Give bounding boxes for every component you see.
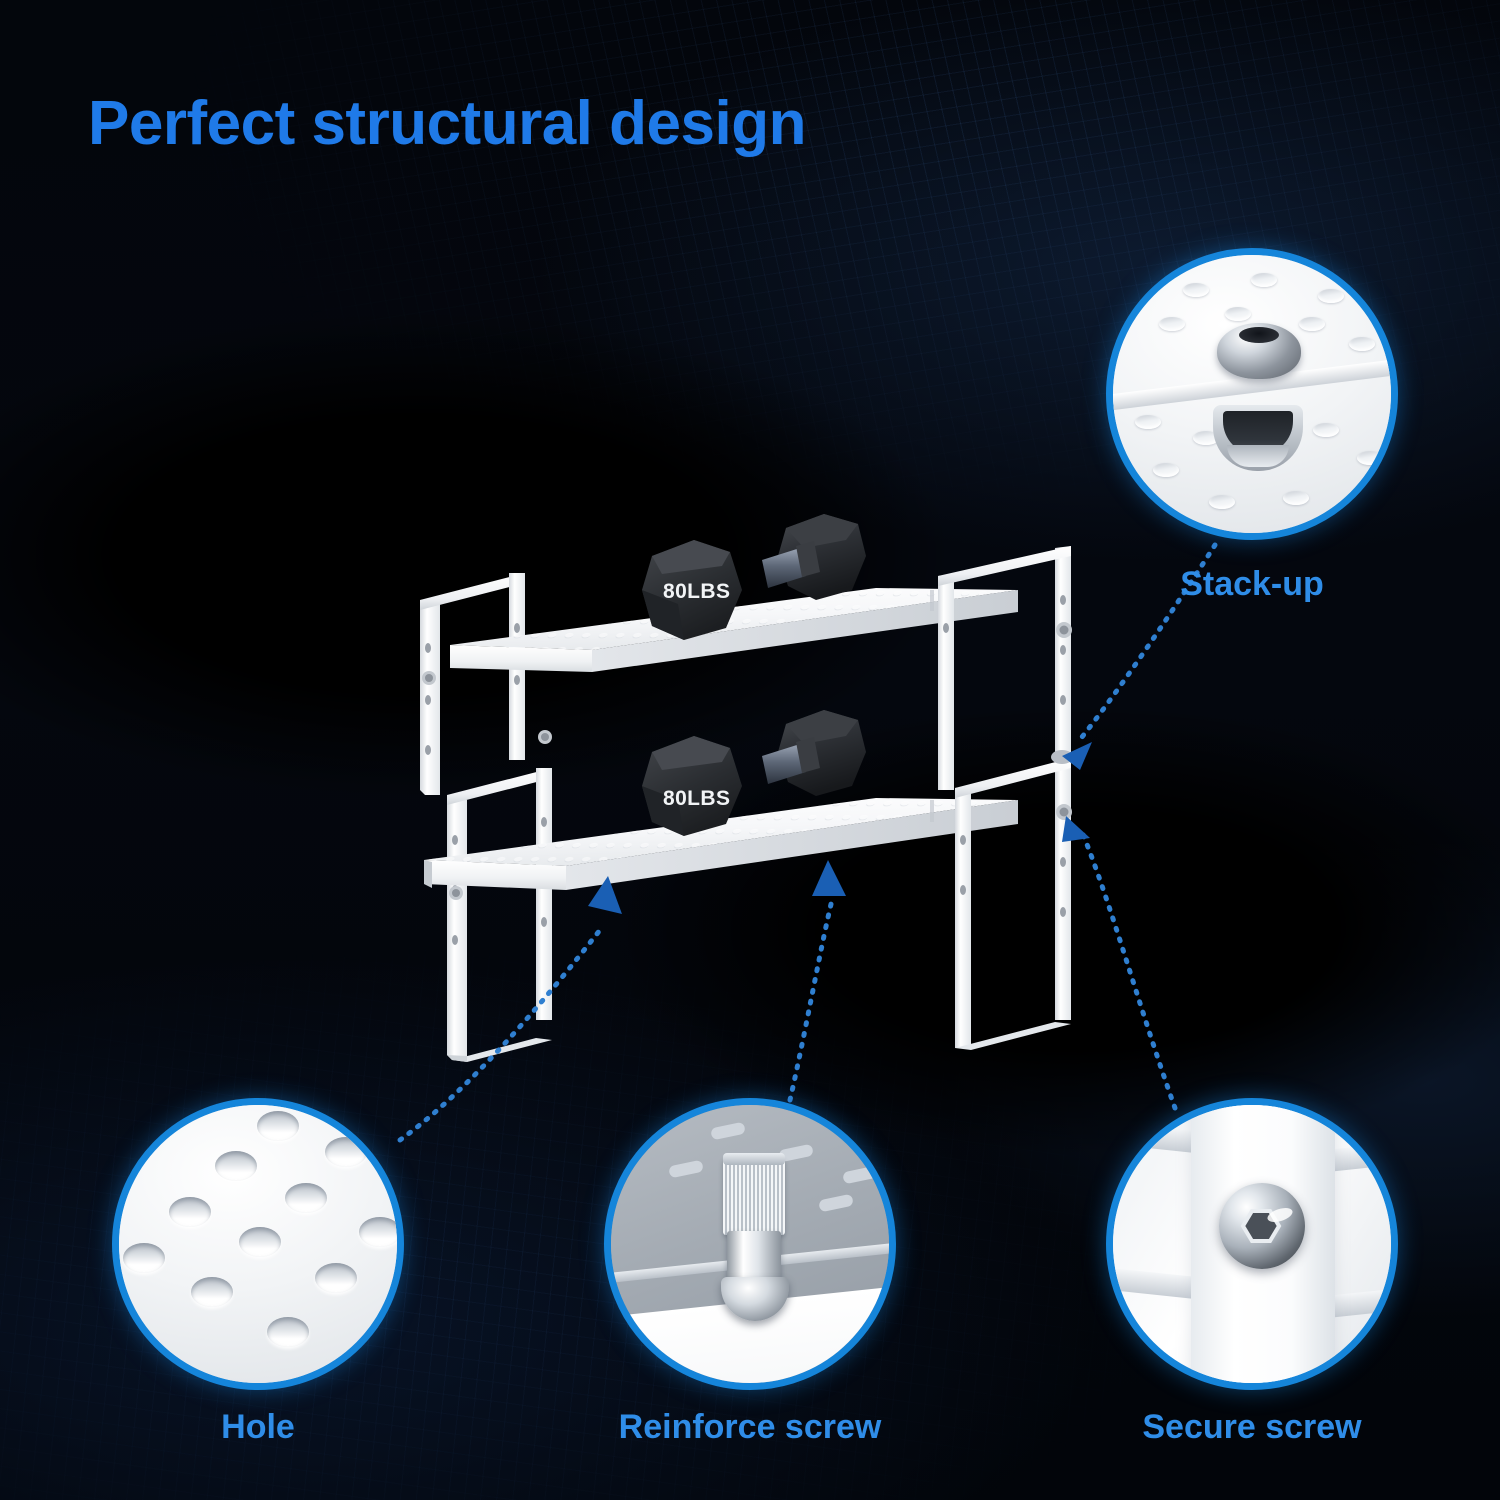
top-tier-right-frame xyxy=(938,546,1073,790)
callout-label-secure-screw: Secure screw xyxy=(1106,1408,1398,1447)
callout-hole[interactable] xyxy=(112,1098,404,1390)
callout-reinforce-screw[interactable] xyxy=(604,1098,896,1390)
callout-stack-up[interactable] xyxy=(1106,248,1398,540)
callout-secure-screw[interactable] xyxy=(1106,1098,1398,1390)
perforated-plate-icon xyxy=(257,1111,299,1141)
dome-connector-icon xyxy=(1217,323,1301,379)
bottom-tier-left-frame xyxy=(447,768,552,1062)
infographic-canvas: Perfect structural design xyxy=(0,0,1500,1500)
stack-up-connector-on-product xyxy=(1051,750,1073,764)
callout-label-stack-up: Stack-up xyxy=(1106,565,1398,604)
callout-label-reinforce-screw: Reinforce screw xyxy=(604,1408,896,1447)
top-tier-left-frame xyxy=(420,573,552,795)
hex-socket-bolt-icon xyxy=(1219,1183,1305,1269)
knurled-screw-icon xyxy=(723,1159,785,1235)
callout-label-hole: Hole xyxy=(112,1408,404,1447)
